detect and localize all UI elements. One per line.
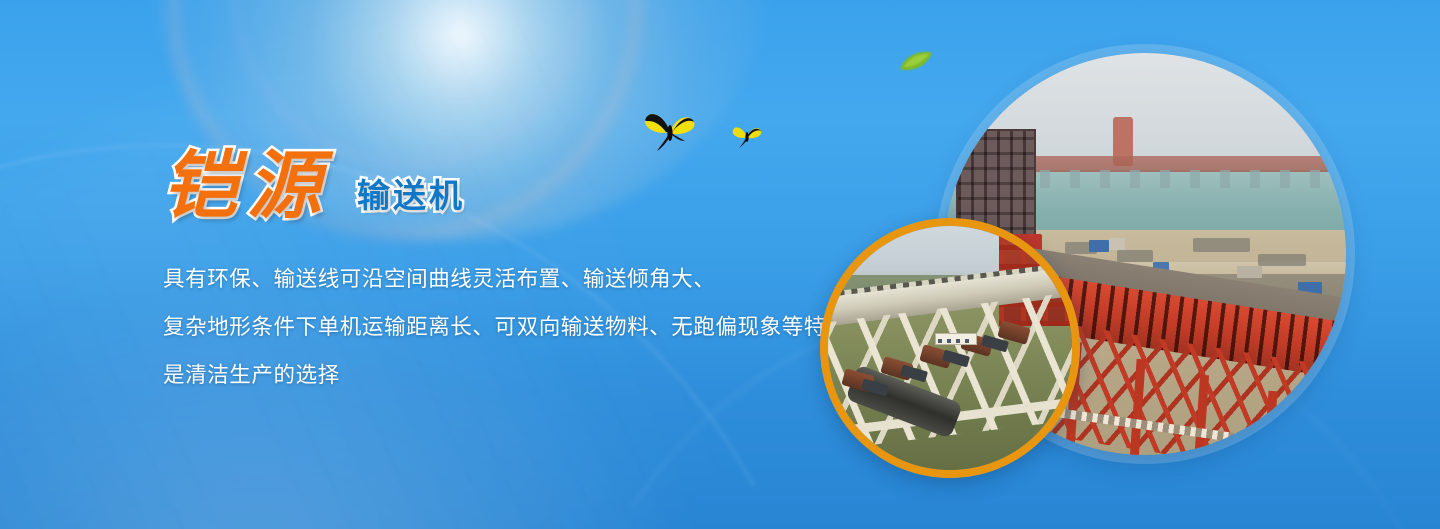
hero-banner: 铠源 输送机 具有环保、输送线可沿空间曲线灵活布置、输送倾角大、 复杂地形条件下… [0,0,1440,529]
lens-flare-ring-inner-icon [232,0,584,166]
brand-subtitle: 输送机 [357,179,465,212]
truss-conveyor-photo [828,226,1072,470]
butterfly-icon [640,108,700,154]
photo-circle-truss-conveyor [820,218,1080,478]
butterfly-icon [730,123,764,149]
headline-group: 铠源 输送机 [163,150,465,223]
leaf-icon [898,50,934,72]
brand-name: 铠源 [163,150,331,223]
